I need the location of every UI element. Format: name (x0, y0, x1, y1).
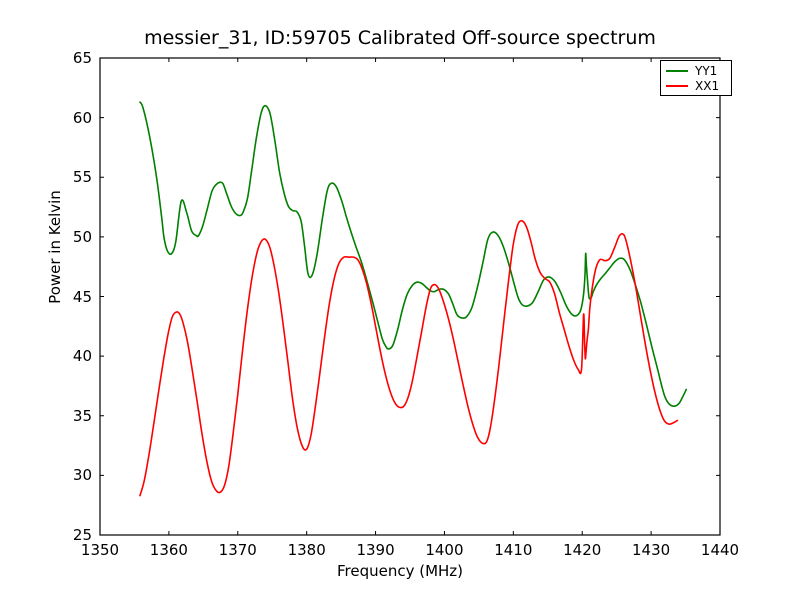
plot-frame (100, 58, 720, 535)
x-tick-4: 1390 (356, 541, 394, 559)
y-tick-4: 45 (54, 288, 92, 306)
x-tick-9: 1440 (701, 541, 739, 559)
legend-entry-xx1: XX1 (661, 79, 731, 93)
legend: YY1 XX1 (660, 60, 732, 96)
legend-label-yy1: YY1 (695, 64, 717, 78)
x-tick-6: 1410 (494, 541, 532, 559)
legend-swatch-yy1 (666, 70, 688, 72)
y-tick-6: 55 (54, 168, 92, 186)
y-tick-0: 25 (54, 526, 92, 544)
y-tick-8: 65 (54, 49, 92, 67)
y-tick-5: 50 (54, 228, 92, 246)
legend-entry-yy1: YY1 (661, 64, 731, 78)
x-tick-8: 1430 (632, 541, 670, 559)
x-tick-5: 1400 (425, 541, 463, 559)
x-tick-3: 1380 (288, 541, 326, 559)
figure-canvas: messier_31, ID:59705 Calibrated Off-sour… (0, 0, 800, 600)
y-tick-2: 35 (54, 407, 92, 425)
y-tick-7: 60 (54, 109, 92, 127)
y-tick-3: 40 (54, 347, 92, 365)
y-tick-1: 30 (54, 466, 92, 484)
legend-swatch-xx1 (666, 85, 688, 87)
legend-label-xx1: XX1 (695, 79, 719, 93)
x-tick-2: 1370 (219, 541, 257, 559)
x-tick-7: 1420 (563, 541, 601, 559)
x-tick-1: 1360 (150, 541, 188, 559)
x-axis-label: Frequency (MHz) (0, 562, 800, 580)
